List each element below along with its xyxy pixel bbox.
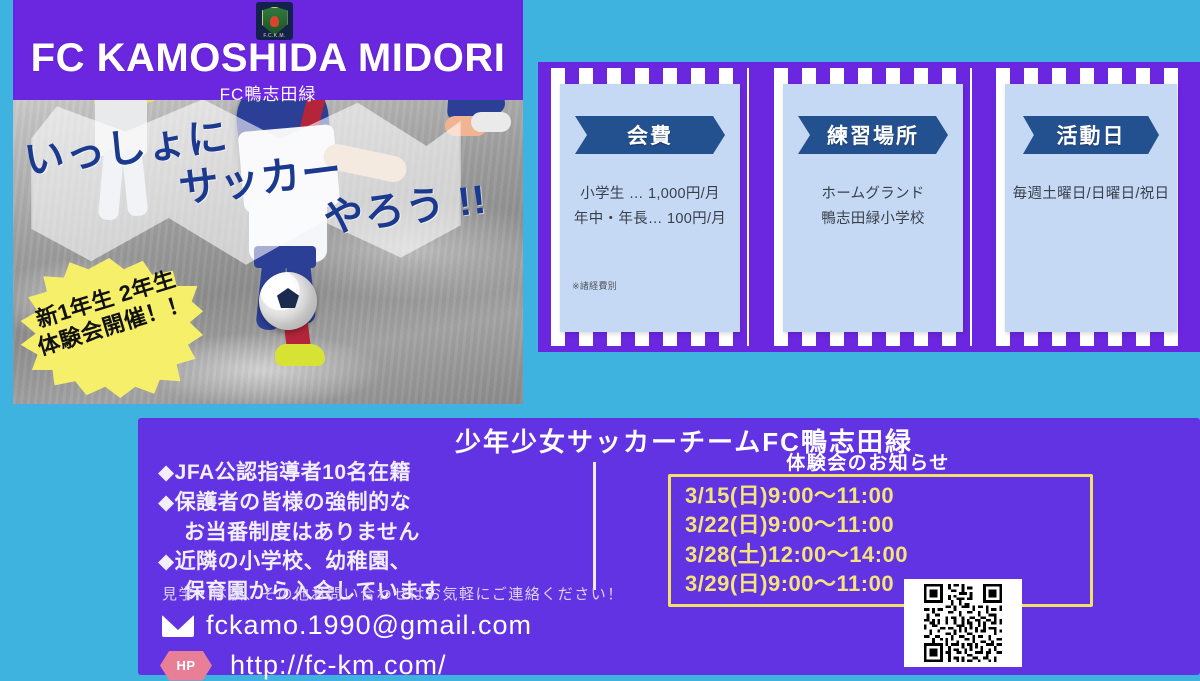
flyer-canvas: F.C.K.M. FC KAMOSHIDA MIDORI FC鴨志田緑 いっしょ… bbox=[0, 0, 1200, 675]
trial-date-item: 3/22(日)9:00〜11:00 bbox=[685, 510, 1080, 539]
card-note-fee: ※諸経費別 bbox=[572, 279, 617, 292]
trial-date-item: 3/15(日)9:00〜11:00 bbox=[685, 481, 1080, 510]
info-card-fee: 会費 小学生 … 1,000円/月 年中・年長… 100円/月 ※諸経費別 bbox=[560, 84, 740, 332]
card-line: 小学生 … 1,000円/月 bbox=[566, 182, 734, 207]
main-player-shoe bbox=[275, 344, 325, 366]
card-stripes-activity-days: 活動日 毎週土曜日/日曜日/祝日 bbox=[996, 68, 1186, 346]
card-line: ホームグランド bbox=[789, 182, 957, 207]
homepage-url[interactable]: http://fc-km.com/ bbox=[230, 650, 447, 681]
list-item: ◆JFA公認指導者10名在籍 bbox=[158, 458, 588, 488]
player-far-shoe-right bbox=[471, 112, 511, 132]
card-title-ribbon-practice-place: 練習場所 bbox=[798, 116, 948, 154]
trial-burst-badge: 新1年生 2年生 体験会開催！！ bbox=[15, 258, 203, 398]
club-header-bar: F.C.K.M. FC KAMOSHIDA MIDORI FC鴨志田緑 bbox=[13, 0, 523, 100]
info-card-activity-days: 活動日 毎週土曜日/日曜日/祝日 bbox=[1005, 84, 1177, 332]
list-item: お当番制度はありません bbox=[158, 518, 588, 548]
card-title-fee: 会費 bbox=[627, 120, 673, 150]
card-line: 年中・年長… 100円/月 bbox=[566, 207, 734, 232]
club-name-jp: FC鴨志田緑 bbox=[13, 80, 523, 105]
trial-date-item: 3/28(土)12:00〜14:00 bbox=[685, 540, 1080, 569]
card-stripes-practice-place: 練習場所 ホームグランド 鴨志田緑小学校 bbox=[774, 68, 972, 346]
card-stripes-fee: 会費 小学生 … 1,000円/月 年中・年長… 100円/月 ※諸経費別 bbox=[551, 68, 749, 346]
contact-prompt: 見学・体験、その他お問い合わせはお気軽にご連絡ください！ bbox=[162, 583, 624, 604]
vertical-divider bbox=[593, 462, 596, 590]
trial-dates-box: 3/15(日)9:00〜11:00 3/22(日)9:00〜11:00 3/28… bbox=[668, 474, 1093, 607]
homepage-row[interactable]: HP http://fc-km.com/ bbox=[160, 650, 447, 681]
card-body-activity-days: 毎週土曜日/日曜日/祝日 bbox=[1005, 182, 1177, 207]
card-title-activity-days: 活動日 bbox=[1057, 120, 1126, 150]
envelope-icon bbox=[162, 615, 194, 637]
shield-icon bbox=[262, 7, 288, 36]
info-card-practice-place: 練習場所 ホームグランド 鴨志田緑小学校 bbox=[783, 84, 963, 332]
qr-code[interactable] bbox=[904, 579, 1022, 667]
email-row[interactable]: fckamo.1990@gmail.com bbox=[162, 610, 532, 641]
card-body-practice-place: ホームグランド 鴨志田緑小学校 bbox=[783, 182, 963, 233]
list-item: ◆近隣の小学校、幼稚園、 bbox=[158, 547, 588, 577]
email-address[interactable]: fckamo.1990@gmail.com bbox=[206, 610, 532, 641]
qr-code-icon bbox=[909, 584, 1017, 662]
card-line: 毎週土曜日/日曜日/祝日 bbox=[1011, 182, 1171, 207]
soccer-ball bbox=[259, 272, 317, 330]
card-line: 鴨志田緑小学校 bbox=[789, 207, 957, 232]
club-name-en: FC KAMOSHIDA MIDORI bbox=[13, 36, 523, 81]
card-title-ribbon-activity-days: 活動日 bbox=[1023, 116, 1159, 154]
club-crest-icon: F.C.K.M. bbox=[256, 2, 293, 40]
hero-photo-panel: F.C.K.M. FC KAMOSHIDA MIDORI FC鴨志田緑 いっしょ… bbox=[13, 0, 523, 404]
trial-notice-title: 体験会のお知らせ bbox=[658, 448, 1078, 475]
bottom-info-panel: 少年少女サッカーチームFC鴨志田緑 ◆JFA公認指導者10名在籍 ◆保護者の皆様… bbox=[138, 418, 1200, 675]
card-body-fee: 小学生 … 1,000円/月 年中・年長… 100円/月 bbox=[560, 182, 740, 233]
card-title-practice-place: 練習場所 bbox=[827, 120, 919, 150]
list-item: ◆保護者の皆様の強制的な bbox=[158, 488, 588, 518]
hp-badge-icon: HP bbox=[160, 651, 212, 681]
card-title-ribbon-fee: 会費 bbox=[575, 116, 725, 154]
info-cards-panel: 会費 小学生 … 1,000円/月 年中・年長… 100円/月 ※諸経費別 練習… bbox=[538, 62, 1200, 352]
